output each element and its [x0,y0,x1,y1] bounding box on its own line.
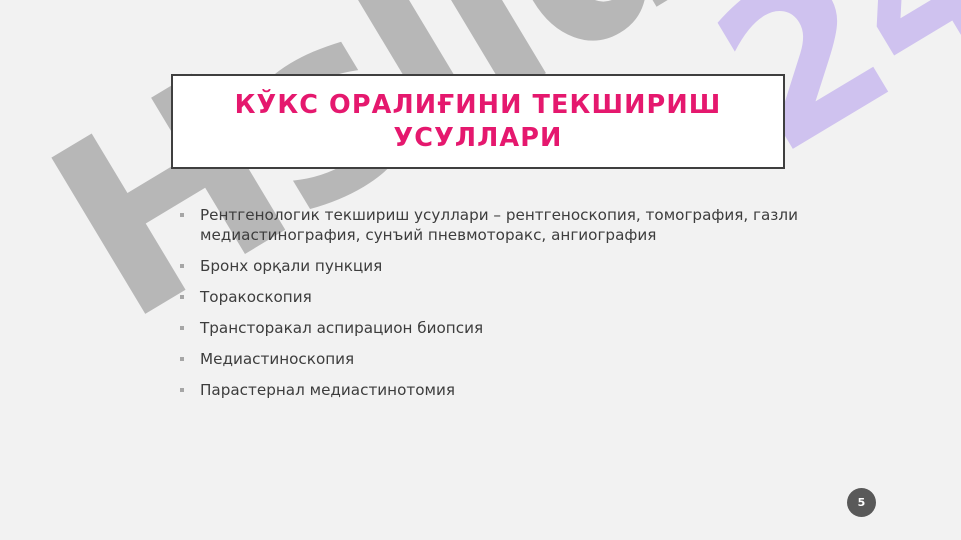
bullet-marker-icon [180,326,184,330]
list-item-label: Медиастиноскопия [200,349,798,369]
list-item: Парастернал медиастинотомия [178,380,798,400]
bullet-marker-icon [180,264,184,268]
list-item: Рентгенологик текшириш усуллари – рентге… [178,205,798,245]
list-item-label: Парастернал медиастинотомия [200,380,798,400]
bullet-marker-icon [180,213,184,217]
list-item: Бронх орқали пункция [178,256,798,276]
list-item: Медиастиноскопия [178,349,798,369]
list-item: Торакоскопия [178,287,798,307]
bullet-marker-icon [180,357,184,361]
slide-title: КЎКС ОРАЛИҒИНИ ТЕКШИРИШ УСУЛЛАРИ [173,89,783,154]
bullet-marker-icon [180,295,184,299]
list-item-label: Бронх орқали пункция [200,256,798,276]
list-item-label: Торакоскопия [200,287,798,307]
list-item-label: Трансторакал аспирацион биопсия [200,318,798,338]
bullet-marker-icon [180,388,184,392]
list-item-label: Рентгенологик текшириш усуллари – рентге… [200,205,798,245]
list-item: Трансторакал аспирацион биопсия [178,318,798,338]
page-number-badge: 5 [847,488,876,517]
slide-title-box: КЎКС ОРАЛИҒИНИ ТЕКШИРИШ УСУЛЛАРИ [171,74,785,169]
bullet-list: Рентгенологик текшириш усуллари – рентге… [178,205,798,400]
presentation-slide: Hslide 24 КЎКС ОРАЛИҒИНИ ТЕКШИРИШ УСУЛЛА… [0,0,961,540]
